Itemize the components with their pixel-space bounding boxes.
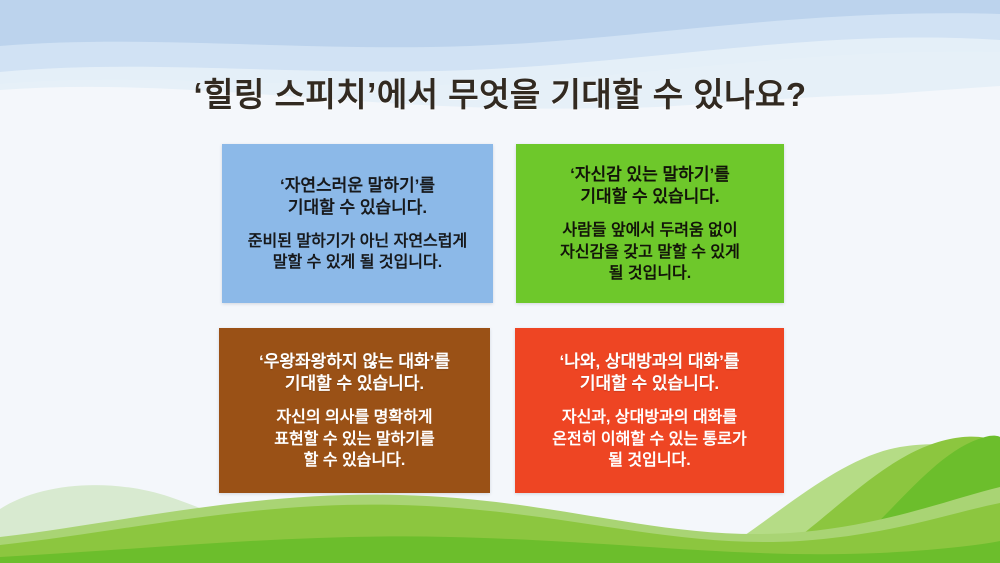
card-heading: ‘자연스러운 말하기’를 기대할 수 있습니다. [280, 175, 435, 220]
hill-front-pale [0, 487, 1000, 563]
card-organized-conversation[interactable]: ‘우왕좌왕하지 않는 대화’를 기대할 수 있습니다. 자신의 의사를 명확하게… [219, 328, 490, 493]
card-body: 자신의 의사를 명확하게 표현할 수 있는 말하기를 할 수 있습니다. [274, 407, 435, 472]
hill-right-mid [760, 437, 1000, 563]
card-body: 사람들 앞에서 두려움 없이 자신감을 갖고 말할 수 있게 될 것입니다. [560, 220, 740, 285]
card-confident-speaking[interactable]: ‘자신감 있는 말하기’를 기대할 수 있습니다. 사람들 앞에서 두려움 없이… [516, 144, 784, 303]
card-dialogue-with-self-and-others[interactable]: ‘나와, 상대방과의 대화’를 기대할 수 있습니다. 자신과, 상대방과의 대… [515, 328, 784, 493]
hill-right-dark [830, 436, 1000, 563]
card-heading: ‘자신감 있는 말하기’를 기대할 수 있습니다. [570, 164, 730, 209]
card-heading: ‘나와, 상대방과의 대화’를 기대할 수 있습니다. [559, 351, 739, 396]
card-body: 자신과, 상대방과의 대화를 온전히 이해할 수 있는 통로가 될 것입니다. [552, 407, 746, 472]
card-natural-speaking[interactable]: ‘자연스러운 말하기’를 기대할 수 있습니다. 준비된 말하기가 아닌 자연스… [222, 144, 493, 303]
wave-band-2 [0, 0, 1000, 72]
card-grid: ‘자연스러운 말하기’를 기대할 수 있습니다. 준비된 말하기가 아닌 자연스… [219, 144, 785, 493]
hill-front-mid [0, 503, 1000, 563]
hill-front-dark [0, 536, 1000, 563]
presentation-slide: ‘힐링 스피치’에서 무엇을 기대할 수 있나요? ‘자연스러운 말하기’를 기… [0, 0, 1000, 563]
hill-left-pale [0, 485, 270, 563]
card-heading: ‘우왕좌왕하지 않는 대화’를 기대할 수 있습니다. [259, 351, 450, 396]
wave-band-1 [0, 0, 1000, 47]
slide-title: ‘힐링 스피치’에서 무엇을 기대할 수 있나요? [0, 68, 1000, 116]
card-body: 준비된 말하기가 아닌 자연스럽게 말할 수 있게 될 것입니다. [248, 231, 467, 275]
